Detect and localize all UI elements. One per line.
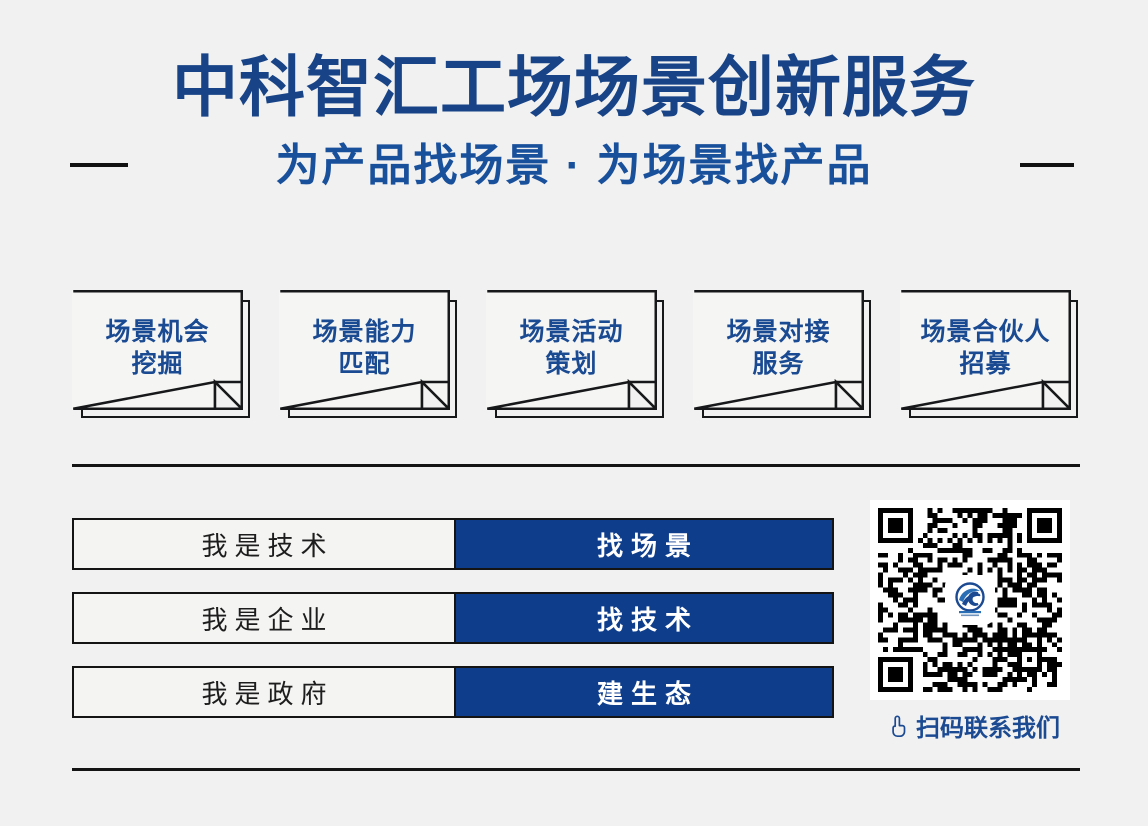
role-label-government[interactable]: 我是政府 — [72, 666, 456, 718]
card-sheet: 场景活动 策划 — [486, 290, 657, 410]
card-label-line1: 场景机会 — [105, 316, 209, 348]
service-card[interactable]: 场景合伙人 招募 — [900, 290, 1080, 420]
card-label: 场景合伙人 招募 — [900, 290, 1071, 410]
divider-bottom — [72, 768, 1080, 771]
card-sheet: 场景能力 匹配 — [279, 290, 450, 410]
qr-block: 扫码联系我们 — [870, 500, 1078, 743]
service-card[interactable]: 场景对接 服务 — [693, 290, 873, 420]
service-card[interactable]: 场景能力 匹配 — [279, 290, 459, 420]
card-label-line1: 场景对接 — [726, 316, 830, 348]
card-sheet: 场景机会 挖掘 — [72, 290, 243, 410]
service-card[interactable]: 场景活动 策划 — [486, 290, 666, 420]
card-label-line2: 策划 — [545, 348, 597, 380]
card-sheet: 场景对接 服务 — [693, 290, 864, 410]
card-label: 场景机会 挖掘 — [72, 290, 243, 410]
action-button-find-scenario[interactable]: 找场景 — [456, 518, 834, 570]
card-label: 场景活动 策划 — [486, 290, 657, 410]
card-sheet: 场景合伙人 招募 — [900, 290, 1071, 410]
qr-card[interactable] — [870, 500, 1070, 700]
poster-root: 中科智汇工场场景创新服务 为产品找场景 · 为场景找产品 场景机会 挖掘 — [0, 0, 1148, 826]
card-label-line1: 场景合伙人 — [920, 316, 1050, 348]
header: 中科智汇工场场景创新服务 为产品找场景 · 为场景找产品 — [0, 52, 1148, 197]
card-label: 场景能力 匹配 — [279, 290, 450, 410]
card-label-line1: 场景能力 — [312, 316, 416, 348]
action-row: 我是技术 找场景 — [72, 518, 834, 570]
subtitle-dash-right — [1020, 163, 1074, 167]
action-row: 我是企业 找技术 — [72, 592, 834, 644]
action-button-find-technology[interactable]: 找技术 — [456, 592, 834, 644]
card-label-line1: 场景活动 — [519, 316, 623, 348]
subtitle-dash-left — [70, 163, 128, 167]
card-label-line2: 挖掘 — [131, 348, 183, 380]
subtitle-row: 为产品找场景 · 为场景找产品 — [0, 135, 1148, 197]
role-label-enterprise[interactable]: 我是企业 — [72, 592, 456, 644]
brand-logo-icon — [947, 577, 993, 623]
card-label-line2: 服务 — [752, 348, 804, 380]
action-row: 我是政府 建生态 — [72, 666, 834, 718]
pointing-hand-icon — [888, 714, 910, 738]
action-button-build-ecosystem[interactable]: 建生态 — [456, 666, 834, 718]
card-label-line2: 招募 — [959, 348, 1011, 380]
qr-caption: 扫码联系我们 — [870, 708, 1078, 743]
qr-caption-text: 扫码联系我们 — [916, 708, 1060, 743]
service-card[interactable]: 场景机会 挖掘 — [72, 290, 252, 420]
action-row-list: 我是技术 找场景 我是企业 找技术 我是政府 建生态 — [72, 518, 834, 718]
page-subtitle: 为产品找场景 · 为场景找产品 — [0, 135, 1148, 197]
card-label-line2: 匹配 — [338, 348, 390, 380]
page-title: 中科智汇工场场景创新服务 — [0, 52, 1148, 123]
service-card-list: 场景机会 挖掘 场景能力 匹配 — [72, 290, 1080, 420]
role-label-technology[interactable]: 我是技术 — [72, 518, 456, 570]
card-label: 场景对接 服务 — [693, 290, 864, 410]
divider-top — [72, 464, 1080, 467]
